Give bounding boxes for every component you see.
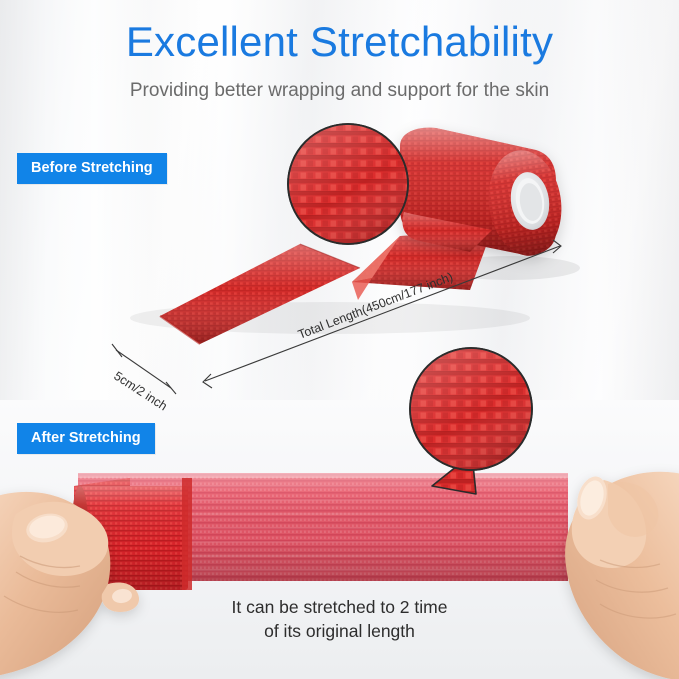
page-subtitle: Providing better wrapping and support fo… xyxy=(0,80,679,102)
dimension-width xyxy=(112,344,176,394)
bandage-roll xyxy=(400,128,568,261)
badge-before-stretching: Before Stretching xyxy=(17,153,167,184)
bandage-folded-stub xyxy=(71,478,192,592)
badge-after-stretching: After Stretching xyxy=(17,423,155,454)
dimension-length-label: Total Length(450cm/177 inch) xyxy=(296,270,455,342)
page-title: Excellent Stretchability xyxy=(0,18,679,66)
stretched-bandage-band xyxy=(78,473,568,581)
texture-callout-bottom xyxy=(410,348,532,494)
dimension-length xyxy=(203,240,561,388)
dimension-width-label: 5cm/2 inch xyxy=(111,369,169,414)
stretch-caption: It can be stretched to 2 time of its ori… xyxy=(0,596,679,643)
right-hand xyxy=(565,472,679,679)
texture-callout-top xyxy=(288,124,408,244)
product-infographic: 5cm/2 inch Total Length(450cm/177 inch) xyxy=(0,0,679,679)
stretch-caption-line1: It can be stretched to 2 time xyxy=(0,596,679,620)
product-shadow xyxy=(130,256,580,334)
left-hand xyxy=(0,492,139,678)
stretch-caption-line2: of its original length xyxy=(0,620,679,644)
bandage-strip-unrolled xyxy=(160,230,492,344)
